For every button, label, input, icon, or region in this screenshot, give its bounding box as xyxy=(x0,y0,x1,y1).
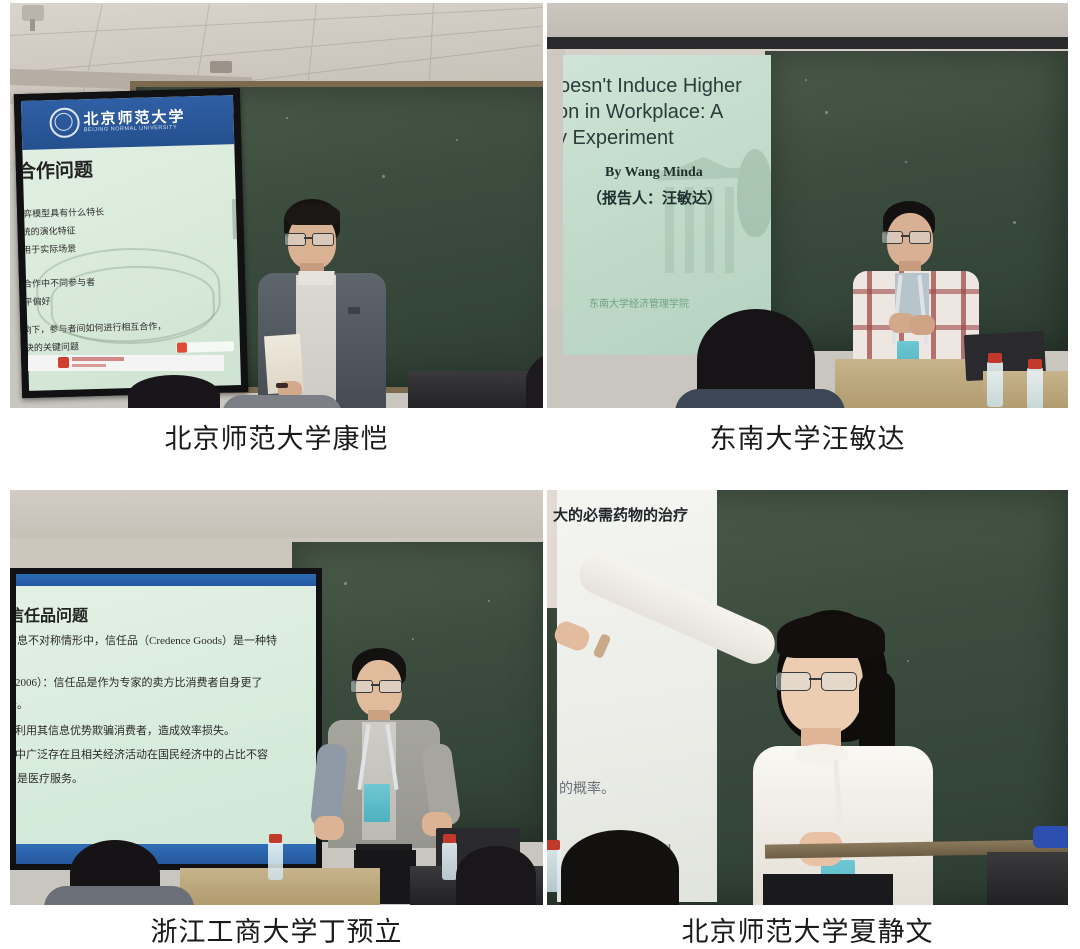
front-desk xyxy=(408,371,543,408)
collar xyxy=(795,744,849,766)
hand xyxy=(909,315,935,335)
caption-top-right: 东南大学汪敏达 xyxy=(547,422,1068,456)
audience-shoulder xyxy=(675,389,845,408)
slide-decoration xyxy=(50,264,216,347)
collar xyxy=(297,271,334,285)
blue-cloth xyxy=(1033,826,1068,848)
glasses-icon xyxy=(350,680,408,692)
bottle-cap xyxy=(443,834,456,843)
name-badge xyxy=(364,784,390,822)
projector-screen: 北京师范大学 BEIJING NORMAL UNIVERSITY 合作问题 博弈… xyxy=(14,88,248,398)
hand xyxy=(314,816,344,840)
water-bottle xyxy=(987,361,1003,407)
slide-heading: 合作问题 xyxy=(21,155,93,184)
slide-heading: 信任品问题 xyxy=(16,602,88,626)
caption-bottom-right: 北京师范大学夏静文 xyxy=(547,915,1068,949)
slide-canvas: 信任品问题 信息不对称情形中，信任品（Credence Goods）是一种特 （… xyxy=(16,574,316,864)
bottle-cap xyxy=(547,840,560,850)
slide-canvas: 北京师范大学 BEIJING NORMAL UNIVERSITY 合作问题 博弈… xyxy=(21,95,241,391)
audience-shoulder xyxy=(44,886,194,905)
water-bottle xyxy=(442,842,457,880)
water-bottle xyxy=(1027,367,1043,408)
pen xyxy=(276,383,288,388)
audience-head xyxy=(561,830,679,905)
slide-body-line: 务。 xyxy=(16,696,28,712)
slide-body-line: 会利用其信息优势欺骗消费者，造成效率损失。 xyxy=(16,722,235,738)
photo-bottom-left[interactable]: 信任品问题 信息不对称情形中，信任品（Credence Goods）是一种特 （… xyxy=(10,490,543,905)
hair-fringe xyxy=(777,614,885,658)
bottle-cap xyxy=(1028,359,1042,369)
title-author: By Wang Minda xyxy=(605,165,703,181)
taskbar-app-icon[interactable] xyxy=(58,357,69,368)
slide-scrollbar[interactable] xyxy=(232,199,237,239)
caption-top-left: 北京师范大学康恺 xyxy=(10,422,543,456)
slide-body-line: （2006）：信任品是作为专家的卖方比消费者自身更了 xyxy=(16,674,263,690)
ceiling xyxy=(10,490,543,542)
back-desk xyxy=(987,852,1068,905)
skirt xyxy=(763,874,893,905)
jacket-pocket xyxy=(348,307,360,314)
photo-top-left[interactable]: 北京师范大学 BEIJING NORMAL UNIVERSITY 合作问题 博弈… xyxy=(10,3,543,408)
sprinkler-stem xyxy=(30,19,35,31)
title-author-cn: （报告人：汪敏达） xyxy=(587,187,722,208)
audience-head xyxy=(128,375,220,408)
photo-top-right[interactable]: oesn't Induce Higher on in Workplace: A … xyxy=(547,3,1068,408)
photo-bottom-right[interactable]: 大的必需药物的治疗 的概率。 7/1 xyxy=(547,490,1068,905)
title-line: y Experiment xyxy=(563,127,674,150)
glasses-icon xyxy=(284,233,340,245)
title-line: on in Workplace: A xyxy=(563,101,723,124)
projector-box xyxy=(210,61,232,73)
title-line: oesn't Induce Higher xyxy=(563,75,742,98)
slide-top-band xyxy=(16,574,316,586)
title-footer: 东南大学经济管理学院 xyxy=(589,295,689,310)
presenter-figure xyxy=(248,199,398,408)
slide-body-line: 动中广泛存在且相关经济活动在国民经济中的占比不容 xyxy=(16,746,268,762)
ceiling-beam xyxy=(547,37,1068,49)
water-bottle xyxy=(268,842,283,880)
bottle-cap xyxy=(269,834,282,843)
photo-grid: 北京师范大学 BEIJING NORMAL UNIVERSITY 合作问题 博弈… xyxy=(0,0,1080,946)
caption-bottom-left: 浙江工商大学丁预立 xyxy=(10,915,543,949)
hair-front xyxy=(286,203,340,225)
glasses-icon xyxy=(775,672,861,690)
presenter-figure xyxy=(697,610,987,905)
audience-head xyxy=(456,846,536,905)
slide-line-top: 大的必需药物的治疗 xyxy=(553,504,688,525)
water-bottle xyxy=(547,848,561,892)
slide-body-line: 博弈模型具有什么特长 xyxy=(21,205,104,221)
glasses-icon xyxy=(881,231,937,243)
audience-shoulder xyxy=(222,395,342,408)
slide-line-mid: 的概率。 xyxy=(559,778,615,798)
ime-logo-icon xyxy=(177,342,187,352)
slide-body-line: 信息不对称情形中，信任品（Credence Goods）是一种特 xyxy=(16,632,277,648)
taskbar-label xyxy=(72,357,124,361)
slide-body-line: 解决的关键问题 xyxy=(21,339,79,354)
slide-body-line: 即是医疗服务。 xyxy=(16,770,83,786)
taskbar-label-2 xyxy=(72,364,106,367)
slide-body-line: 系统的演化特征 xyxy=(21,224,76,239)
bottle-cap xyxy=(988,353,1002,363)
projector-screen: 信任品问题 信息不对称情形中，信任品（Credence Goods）是一种特 （… xyxy=(10,568,322,870)
slide-body-line: 应用于实际场景 xyxy=(21,242,76,257)
